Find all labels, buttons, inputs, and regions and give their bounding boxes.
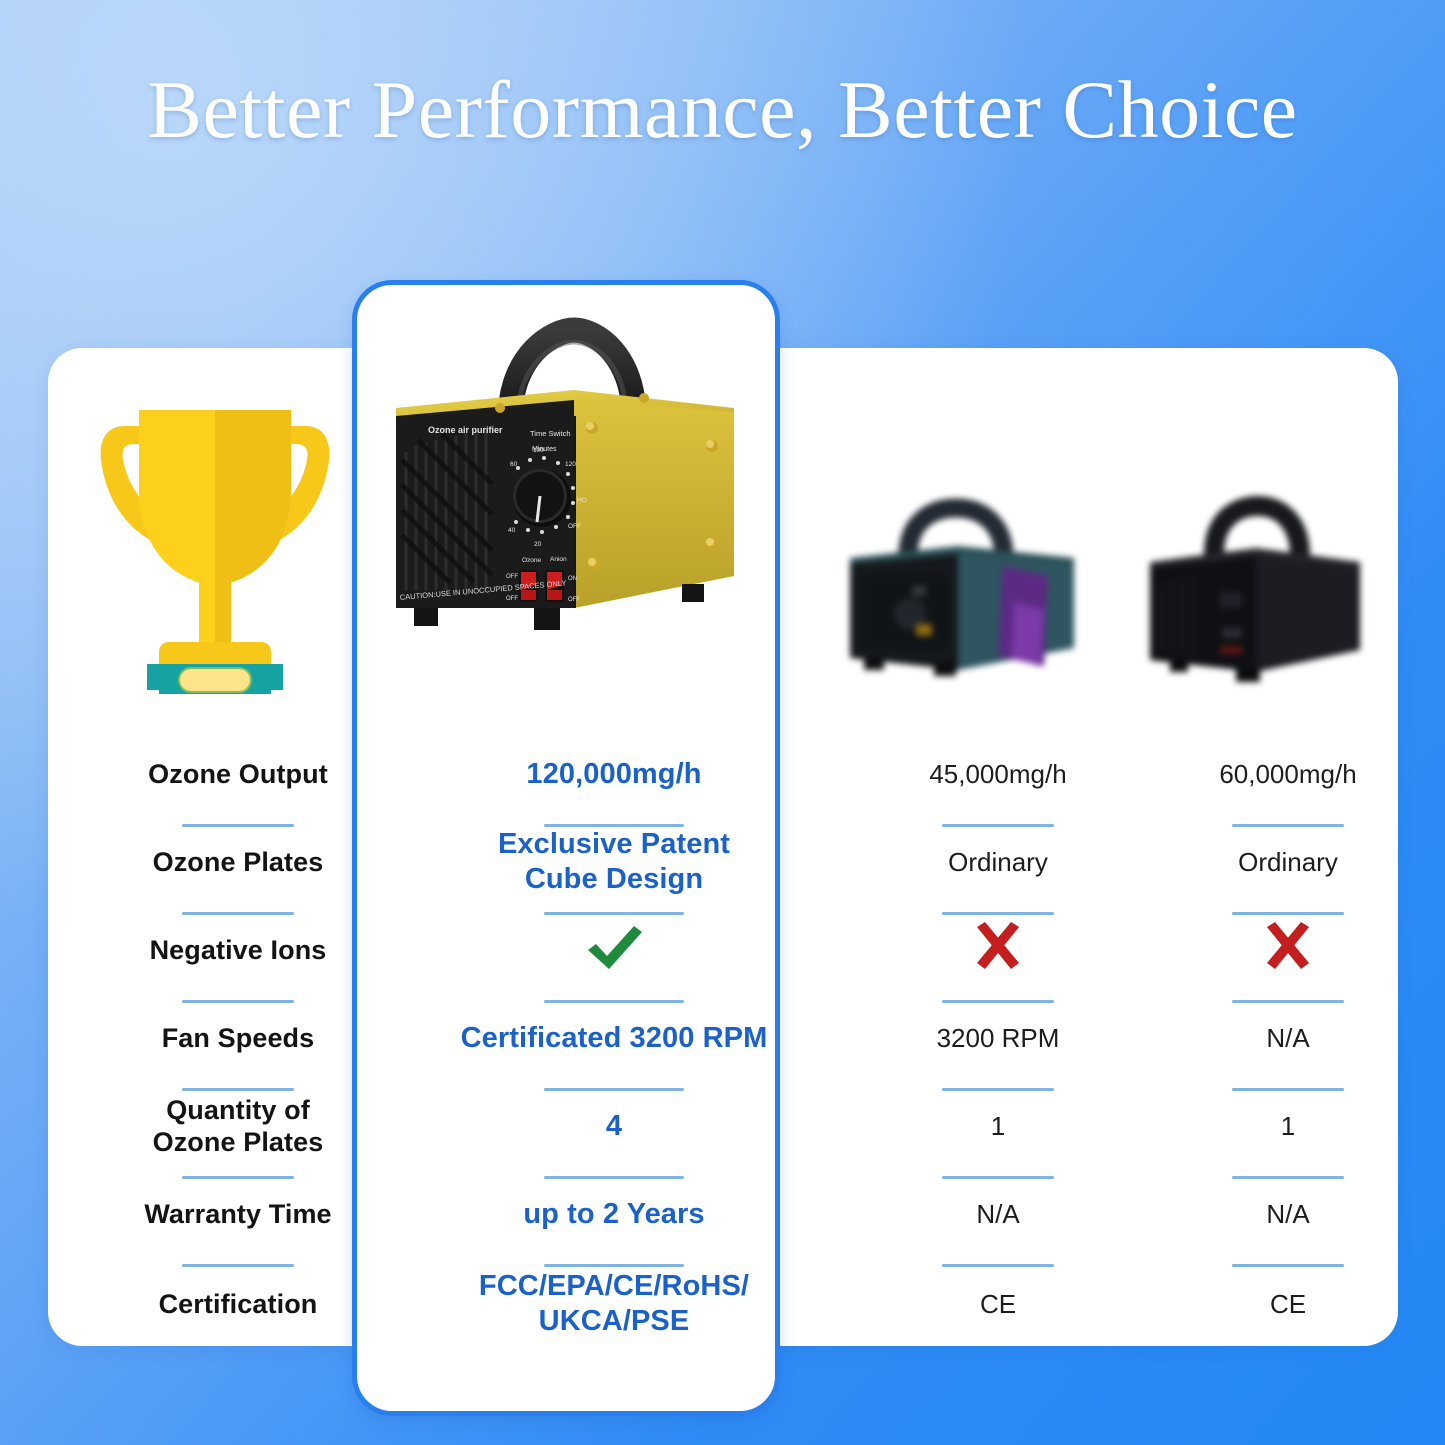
- page-title: Better Performance, Better Choice: [0, 62, 1445, 158]
- svg-text:OFF: OFF: [506, 574, 518, 580]
- check-icon: [582, 922, 646, 979]
- competitor-one-value-quantity-of-ozone-plates: 1: [848, 1082, 1148, 1170]
- svg-text:HO: HO: [577, 497, 587, 504]
- comparison-grid: Ozone Output 120,000mg/h 45,000mg/h 60,0…: [48, 730, 1398, 1350]
- featured-value-certification: FCC/EPA/CE/RoHS/ UKCA/PSE: [402, 1258, 826, 1350]
- competitor-one-value-ozone-plates: Ordinary: [848, 818, 1148, 906]
- competitor-two-value-warranty-time: N/A: [1138, 1170, 1438, 1258]
- table-row: Ozone Plates Exclusive Patent Cube Desig…: [48, 818, 1398, 906]
- svg-text:120: 120: [565, 461, 576, 468]
- svg-text:ON: ON: [568, 576, 577, 582]
- cross-icon: [1260, 922, 1316, 979]
- svg-text:OFF: OFF: [568, 597, 580, 603]
- featured-value-ozone-output: 120,000mg/h: [402, 730, 826, 818]
- competitor-two-value-fan-speeds: N/A: [1138, 994, 1438, 1082]
- row-label-ozone-output: Ozone Output: [78, 730, 398, 818]
- featured-product-image: Ozone air purifier Time Switch Minutes 6…: [382, 300, 752, 660]
- table-row: Certification FCC/EPA/CE/RoHS/ UKCA/PSE …: [48, 1258, 1398, 1350]
- table-row: Fan Speeds Certificated 3200 RPM 3200 RP…: [48, 994, 1398, 1082]
- featured-value-warranty-time: up to 2 Years: [402, 1170, 826, 1258]
- featured-value-ozone-plates: Exclusive Patent Cube Design: [402, 818, 826, 906]
- trophy-icon: [95, 398, 335, 698]
- row-label-fan-speeds: Fan Speeds: [78, 994, 398, 1082]
- svg-text:60: 60: [510, 461, 518, 468]
- competitor-two-value-ozone-plates: Ordinary: [1138, 818, 1438, 906]
- competitor-two-value-certification: CE: [1138, 1258, 1438, 1350]
- row-label-negative-ions: Negative Ions: [78, 906, 398, 994]
- row-label-certification: Certification: [78, 1258, 398, 1350]
- competitor-two-value-quantity-of-ozone-plates: 1: [1138, 1082, 1438, 1170]
- svg-text:Ozone air purifier: Ozone air purifier: [428, 425, 503, 435]
- table-row: Negative Ions: [48, 906, 1398, 994]
- row-label-quantity-of-ozone-plates: Quantity of Ozone Plates: [78, 1082, 398, 1170]
- svg-text:OFF: OFF: [506, 596, 518, 602]
- featured-value-fan-speeds: Certificated 3200 RPM: [402, 994, 826, 1082]
- svg-text:40: 40: [508, 527, 516, 534]
- table-row: Quantity of Ozone Plates 4 1 1: [48, 1082, 1398, 1170]
- competitor-two-value-negative-ions: [1138, 906, 1438, 994]
- cross-icon: [970, 922, 1026, 979]
- competitor-one-product-image: [838, 490, 1088, 700]
- competitor-one-value-negative-ions: [848, 906, 1148, 994]
- competitor-one-value-warranty-time: N/A: [848, 1170, 1148, 1258]
- table-row: Ozone Output 120,000mg/h 45,000mg/h 60,0…: [48, 730, 1398, 818]
- featured-value-quantity-of-ozone-plates: 4: [402, 1082, 826, 1170]
- competitor-two-product-image: [1140, 490, 1370, 700]
- row-label-warranty-time: Warranty Time: [78, 1170, 398, 1258]
- competitor-one-value-certification: CE: [848, 1258, 1148, 1350]
- competitor-two-value-ozone-output: 60,000mg/h: [1138, 730, 1438, 818]
- svg-text:100: 100: [533, 447, 544, 454]
- featured-value-negative-ions: [402, 906, 826, 994]
- svg-text:Time Switch: Time Switch: [530, 429, 571, 438]
- row-label-ozone-plates: Ozone Plates: [78, 818, 398, 906]
- svg-text:20: 20: [534, 541, 542, 548]
- svg-text:Ozone: Ozone: [522, 557, 542, 564]
- svg-text:Anion: Anion: [550, 556, 567, 563]
- svg-text:OFF: OFF: [568, 523, 581, 530]
- table-row: Warranty Time up to 2 Years N/A N/A: [48, 1170, 1398, 1258]
- competitor-one-value-fan-speeds: 3200 RPM: [848, 994, 1148, 1082]
- competitor-one-value-ozone-output: 45,000mg/h: [848, 730, 1148, 818]
